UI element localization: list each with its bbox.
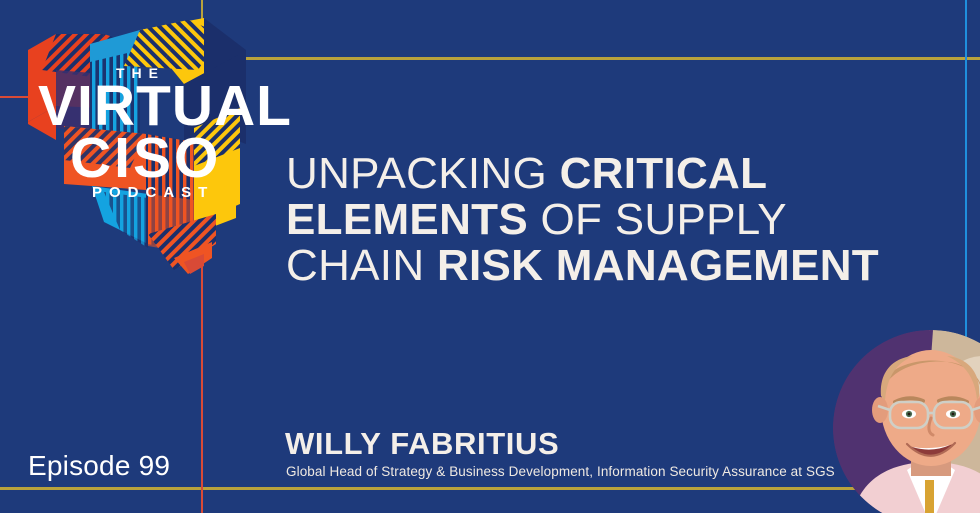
episode-title-line-1: UNPACKING CRITICAL xyxy=(286,152,896,196)
blue-vertical-rule xyxy=(965,0,967,360)
title-line1-plain: UNPACKING xyxy=(286,149,560,198)
episode-number-label: Episode 99 xyxy=(28,450,170,482)
title-line3-plain: CHAIN xyxy=(286,241,437,290)
title-line2-plain: OF SUPPLY xyxy=(528,195,787,244)
speaker-portrait xyxy=(833,330,980,513)
title-line2-bold: ELEMENTS xyxy=(286,195,528,244)
title-line3-bold: RISK MANAGEMENT xyxy=(437,241,879,290)
virtual-ciso-podcast-logo: THE VIRTUAL CISO PODCAST xyxy=(8,8,268,288)
episode-title-line-2: ELEMENTS OF SUPPLY xyxy=(286,198,896,242)
gold-horizontal-rule-bottom xyxy=(0,487,980,490)
red-vertical-rule xyxy=(201,252,203,513)
episode-title: UNPACKING CRITICAL ELEMENTS OF SUPPLY CH… xyxy=(286,152,896,288)
title-line1-bold: CRITICAL xyxy=(560,149,768,198)
episode-title-line-3: CHAIN RISK MANAGEMENT xyxy=(286,244,896,288)
podcast-episode-slide: THE VIRTUAL CISO PODCAST UNPACKING CRITI… xyxy=(0,0,980,513)
speaker-name: WILLY FABRITIUS xyxy=(285,426,559,462)
speaker-role: Global Head of Strategy & Business Devel… xyxy=(286,464,835,479)
gold-horizontal-rule-top xyxy=(205,57,980,60)
